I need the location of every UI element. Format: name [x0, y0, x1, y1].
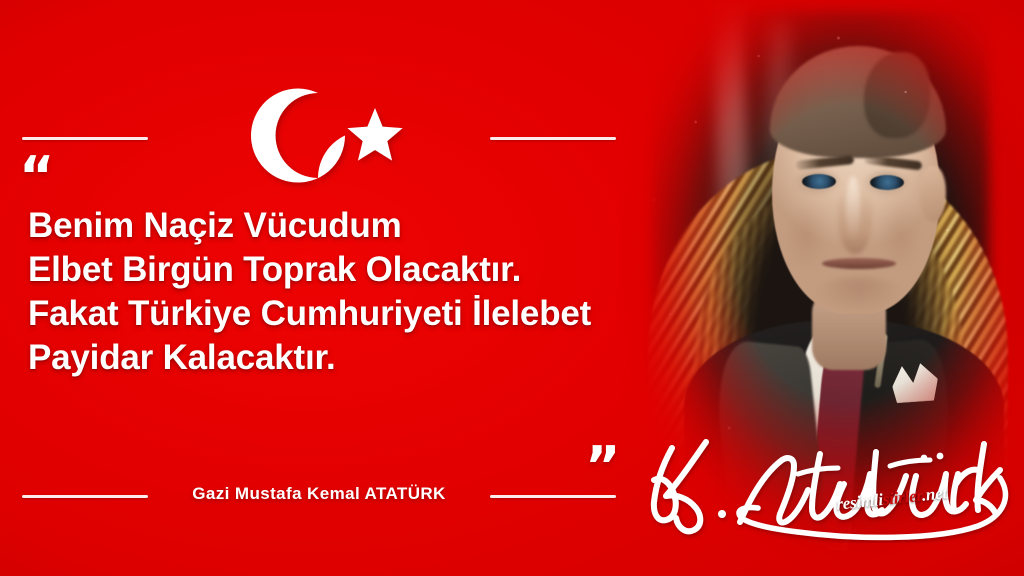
quote-text: Benim Naçiz Vücudum Elbet Birgün Toprak …: [28, 204, 688, 380]
divider-top-right: [490, 137, 616, 140]
hair-part: [864, 52, 930, 138]
divider-top-left: [22, 137, 148, 140]
chin-shadow: [814, 276, 904, 314]
eye-right: [870, 175, 904, 190]
mouth: [822, 258, 896, 269]
ear: [920, 166, 946, 222]
attribution-text: Gazi Mustafa Kemal ATATÜRK: [0, 484, 638, 504]
watermark-part-3: .net: [921, 483, 948, 505]
opening-quote-mark: “: [19, 150, 55, 204]
eye-left: [802, 174, 836, 189]
ataturk-quote-poster: “ ” Benim Naçiz Vücudum Elbet Birgün Top…: [0, 0, 1024, 576]
watermark-part-2: siirler: [882, 486, 923, 509]
quote-line-2: Elbet Birgün Toprak Olacaktır.: [28, 248, 688, 292]
nose-highlight: [846, 176, 860, 242]
quote-line-4: Payidar Kalacaktır.: [28, 336, 688, 380]
watermark-part-1: resimli: [835, 490, 884, 514]
quote-line-1: Benim Naçiz Vücudum: [28, 204, 688, 248]
cheek-left: [784, 202, 828, 272]
quote-line-3: Fakat Türkiye Cumhuriyeti İlelebet: [28, 292, 688, 336]
crescent-star-icon: [250, 78, 420, 193]
